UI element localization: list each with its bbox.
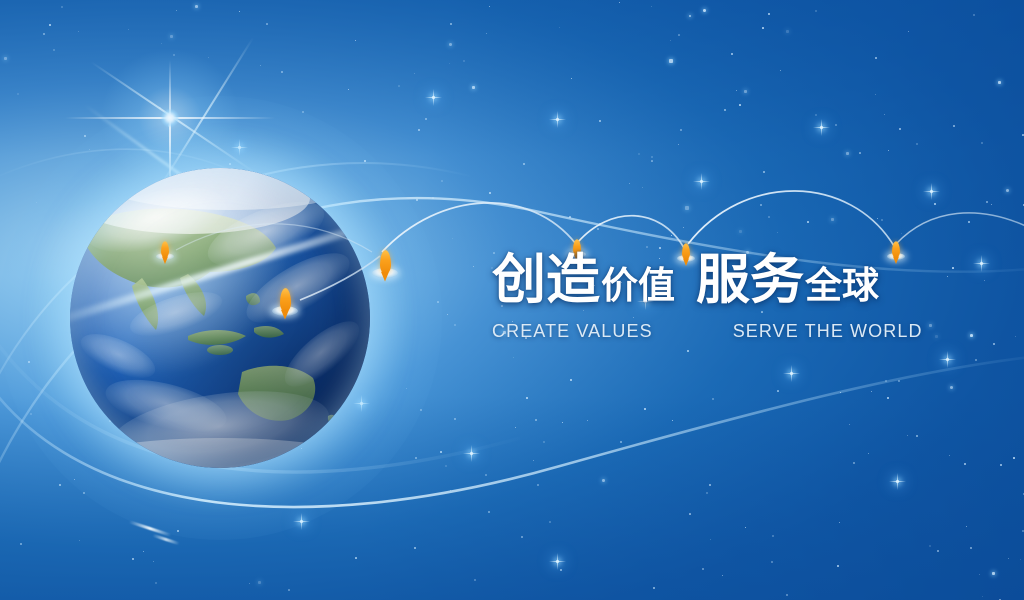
banner-stage: 创造 价值 服务 全球 CREATE VALUES SERVE THE WORL…: [0, 0, 1024, 600]
headline-phrase2-sub: 全球: [805, 258, 879, 314]
arc-globe-link-faint: [176, 224, 372, 252]
headline-phrase2-main: 服务: [696, 252, 804, 308]
arc-pin2-to-pin3: [578, 216, 684, 248]
route-pin-1[interactable]: [372, 244, 398, 278]
headline-chinese: 创造 价值 服务 全球: [492, 252, 922, 314]
arc-pin1-to-pin2: [382, 203, 576, 252]
subtitle-create-values: CREATE VALUES: [492, 321, 653, 342]
headline-english: CREATE VALUES SERVE THE WORLD: [492, 321, 922, 342]
pin-marker-icon: [380, 250, 391, 274]
arc-pin3-to-pin4: [688, 191, 894, 246]
globe-pin-oceania[interactable]: [272, 282, 298, 316]
headline-phrase1-sub: 价值: [601, 258, 675, 314]
arc-pin4-offscreen: [896, 213, 1024, 244]
subtitle-serve-the-world: SERVE THE WORLD: [733, 321, 923, 342]
pin-marker-icon: [280, 288, 291, 312]
pin-marker-icon: [161, 241, 169, 257]
globe-pin-asia[interactable]: [156, 236, 174, 260]
headline-block: 创造 价值 服务 全球 CREATE VALUES SERVE THE WORL…: [492, 252, 922, 342]
headline-phrase1-main: 创造: [492, 252, 600, 308]
arc-globe-to-pin1: [300, 256, 380, 300]
